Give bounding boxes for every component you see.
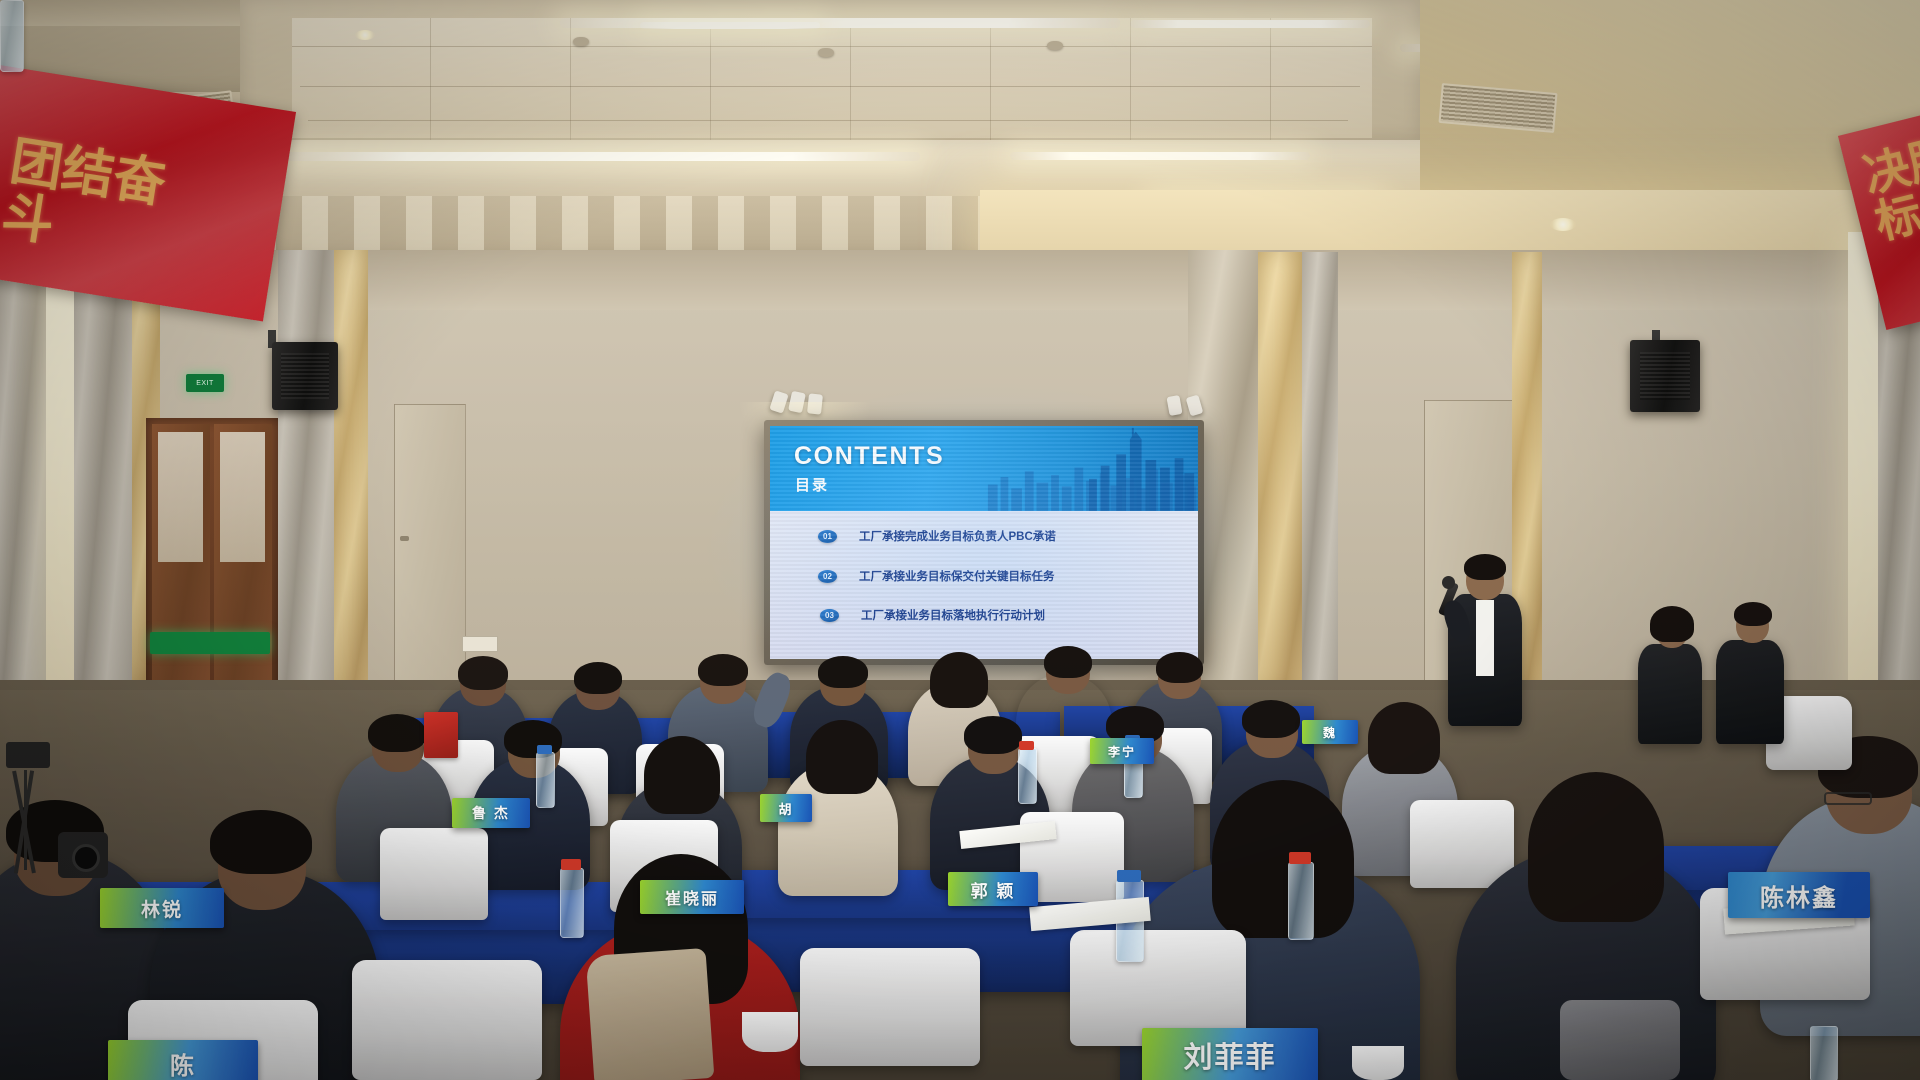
- name-placard-label: 胡: [778, 799, 793, 818]
- door-glass-right: [220, 432, 265, 562]
- camera-lens-icon: [72, 844, 100, 872]
- name-placard-label: 魏: [1323, 724, 1337, 741]
- name-placard: 陈: [108, 1040, 258, 1080]
- tripod-leg: [24, 770, 27, 870]
- ceiling-grid-line: [292, 46, 1372, 47]
- ceiling-light-strip: [1130, 20, 1370, 28]
- name-placard: 刘菲菲: [1142, 1028, 1318, 1080]
- slide-item-text: 工厂承接业务目标落地执行行动计划: [861, 607, 1045, 623]
- attendee-hair-long: [930, 652, 988, 708]
- attendee-hair-long: [644, 736, 720, 814]
- ceiling-grid-line: [300, 86, 1360, 87]
- smoke-detector: [1047, 41, 1063, 50]
- water-bottle[interactable]: [1810, 1026, 1838, 1080]
- wall-panel-gold-2: [334, 250, 368, 700]
- attendee-hair: [698, 654, 748, 686]
- wall-panel-steel-2: [278, 250, 334, 708]
- ceiling-light-strip: [640, 22, 820, 29]
- microphone-head-icon: [1442, 576, 1455, 589]
- conference-room-photo: EXIT 团结奋斗 决胜目标: [0, 0, 1920, 1080]
- name-placard-label: 崔晓丽: [665, 885, 719, 909]
- exit-sign: EXIT: [186, 374, 224, 392]
- slide-header: CONTENTS 目录: [770, 426, 1198, 511]
- attendee-hair: [368, 714, 426, 752]
- slide-item-text: 工厂承接完成业务目标负责人PBC承诺: [859, 528, 1056, 544]
- cup[interactable]: [742, 1012, 798, 1052]
- draped-jacket: [586, 948, 715, 1080]
- exit-sign-secondary: [150, 632, 270, 654]
- ceiling-light-strip: [1010, 152, 1310, 160]
- eyeglasses-icon: [1824, 792, 1872, 805]
- draped-bag: [1560, 1000, 1680, 1080]
- attendee-hair: [458, 656, 508, 690]
- downlight: [1550, 218, 1576, 231]
- name-placard: 崔晓丽: [640, 880, 744, 914]
- bottle-cap: [1289, 852, 1311, 864]
- bottle-cap: [537, 745, 552, 754]
- attendee-hair-long: [1212, 780, 1354, 938]
- wall-panel-steel-right: [1302, 252, 1338, 692]
- standing-attendee: [1716, 640, 1784, 744]
- exit-sign-label: EXIT: [196, 380, 214, 387]
- attendee-hair-long: [1528, 772, 1664, 922]
- wall-panel-gold-right: [1258, 252, 1302, 692]
- ceiling-speaker-right: [1630, 340, 1700, 412]
- bottle-cap: [1019, 741, 1034, 750]
- name-placard: 鲁 杰: [452, 798, 530, 828]
- banquet-chair: [352, 960, 542, 1080]
- attendee-hair: [1242, 700, 1300, 738]
- bottle-cap: [561, 859, 581, 870]
- attendee-hair: [1156, 652, 1203, 683]
- ceiling-grid-vline: [1270, 18, 1271, 140]
- water-bottle[interactable]: [1018, 748, 1037, 804]
- slide-item-number: 02: [818, 570, 837, 583]
- smoke-detector: [573, 37, 589, 46]
- name-placard-label: 刘菲菲: [1183, 1034, 1276, 1076]
- attendee-hair: [210, 810, 312, 874]
- slide-title-cn: 目录: [795, 474, 829, 495]
- downlight: [355, 30, 375, 40]
- slide-body: 01 工厂承接完成业务目标负责人PBC承诺 02 工厂承接业务目标保交付关键目标…: [770, 511, 1198, 659]
- attendee-hair-long: [806, 720, 878, 794]
- banquet-chair: [1410, 800, 1514, 888]
- skyline-graphic: [984, 426, 1198, 511]
- name-placard: 胡: [760, 794, 812, 822]
- name-placard: 魏: [1302, 720, 1358, 744]
- standing-attendee-hair: [1650, 606, 1694, 642]
- name-placard-label: 陈林鑫: [1760, 878, 1838, 913]
- tripod-camera: [0, 742, 60, 872]
- name-placard-label: 林锐: [141, 895, 183, 922]
- water-bottle[interactable]: [1288, 862, 1314, 940]
- cup[interactable]: [1352, 1046, 1404, 1080]
- standing-attendee: [1638, 644, 1702, 744]
- wall-light-column: [46, 230, 74, 700]
- banquet-chair: [800, 948, 980, 1066]
- draped-jacket: [1030, 796, 1126, 892]
- attendee-hair: [574, 662, 622, 694]
- fire-extinguisher-box: [424, 712, 458, 758]
- slide-item-number: 01: [818, 530, 837, 543]
- ceiling-grid-line: [308, 120, 1348, 121]
- ceiling-grid-vline: [430, 18, 431, 140]
- name-placard: 郭 颖: [948, 872, 1038, 906]
- water-bottle[interactable]: [536, 752, 555, 808]
- presenter-shirt: [1476, 600, 1494, 676]
- presentation-screen[interactable]: CONTENTS 目录 01 工厂承接完成业务目标负责人PBC承诺 02 工厂承…: [770, 426, 1198, 659]
- presenter-hair: [1464, 554, 1506, 580]
- slide-title-en: CONTENTS: [794, 442, 944, 471]
- name-placard-label: 李宁: [1108, 743, 1136, 760]
- wall-sign-small: [462, 636, 498, 652]
- name-placard-label: 鲁 杰: [472, 803, 510, 823]
- attendee-hair: [964, 716, 1022, 754]
- ceiling-grid-vline: [710, 18, 711, 140]
- slide-item-text: 工厂承接业务目标保交付关键目标任务: [859, 568, 1055, 584]
- attendee-hair-long: [1368, 702, 1440, 774]
- name-placard-label: 郭 颖: [971, 877, 1016, 902]
- wall-light-column-right: [1848, 232, 1878, 702]
- name-placard-label: 陈: [170, 1046, 196, 1080]
- door-handle[interactable]: [400, 536, 409, 541]
- water-bottle[interactable]: [0, 0, 24, 72]
- ceiling-grid-vline: [1130, 18, 1131, 140]
- ceiling-grid-vline: [990, 18, 991, 140]
- name-placard: 陈林鑫: [1728, 872, 1870, 918]
- wall-panel-steel-left: [0, 236, 46, 716]
- banner-left-text: 团结奋斗: [0, 134, 183, 268]
- door-closed[interactable]: [394, 404, 466, 692]
- ceiling-speaker-left: [272, 342, 338, 410]
- door-glass-left: [158, 432, 203, 562]
- name-placard: 李宁: [1090, 738, 1154, 764]
- standing-attendee-hair: [1734, 602, 1772, 626]
- slide-item-number: 03: [820, 609, 839, 622]
- slide-item-01: 01 工厂承接完成业务目标负责人PBC承诺: [818, 528, 1056, 544]
- slide-item-02: 02 工厂承接业务目标保交付关键目标任务: [818, 568, 1055, 584]
- water-bottle[interactable]: [560, 868, 584, 938]
- wall-panel-steel: [74, 236, 132, 706]
- banquet-chair: [380, 828, 488, 920]
- smoke-detector: [818, 48, 834, 57]
- slide-item-03: 03 工厂承接业务目标落地执行行动计划: [820, 607, 1045, 623]
- ceiling-grid-vline: [850, 18, 851, 140]
- ceiling-light-strip: [280, 152, 920, 161]
- camera-body: [6, 742, 50, 768]
- name-placard: 林锐: [100, 888, 224, 928]
- attendee-hair: [818, 656, 868, 688]
- ceiling-grid-vline: [570, 18, 571, 140]
- attendee-hair: [1044, 646, 1092, 678]
